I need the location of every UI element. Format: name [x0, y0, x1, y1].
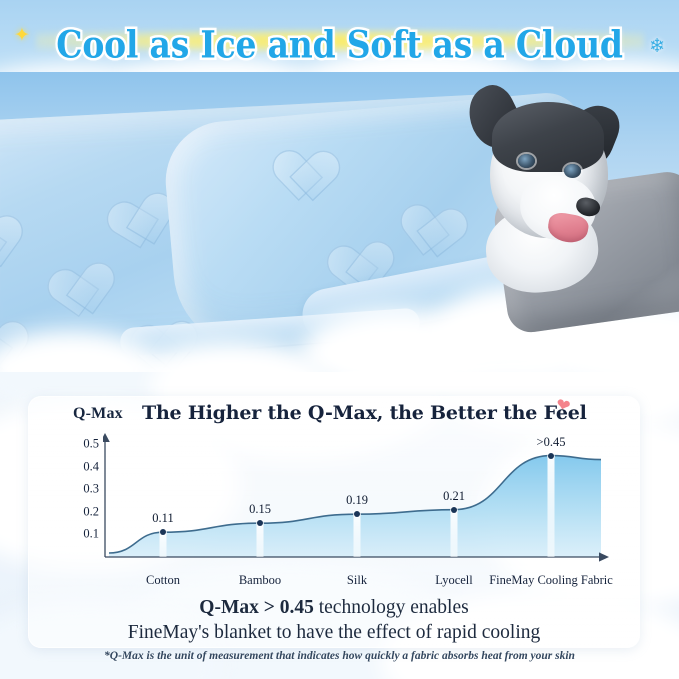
product-photo: [0, 72, 679, 372]
y-tick-0.1: 0.1: [73, 527, 99, 542]
infographic-root: Cool as Ice and Soft as a Cloud ✦ ❄: [0, 0, 679, 679]
x-label-lyocell: Lyocell: [435, 573, 473, 588]
dog-eye-right: [564, 164, 581, 178]
y-tick-0.5: 0.5: [73, 437, 99, 452]
value-label-bamboo: 0.15: [249, 502, 271, 517]
y-axis-title: Q-Max: [73, 405, 123, 423]
value-label-silk: 0.19: [346, 493, 368, 508]
x-label-bamboo: Bamboo: [239, 573, 281, 588]
statement-line-1: Q-Max > 0.45 technology enables: [29, 595, 639, 620]
sparkle-icon: ✦: [14, 26, 30, 45]
gridline-bar-silk: [354, 514, 361, 557]
data-point-cotton: [160, 529, 166, 535]
footnote: *Q-Max is the unit of measurement that i…: [0, 650, 679, 662]
qmax-chart: 0.10.20.30.40.5: [73, 433, 613, 581]
value-label-finemay-cooling-fabric: >0.45: [537, 435, 566, 450]
dog-head-markings: [492, 102, 604, 172]
x-label-silk: Silk: [347, 573, 367, 588]
y-axis-ticks: 0.10.20.30.40.5: [73, 433, 99, 557]
y-tick-0.4: 0.4: [73, 459, 99, 474]
data-point-bamboo: [257, 520, 263, 526]
chart-title: The Higher the Q-Max, the Better the Fee…: [142, 402, 587, 424]
data-point-silk: [354, 511, 360, 517]
gridline-bar-bamboo: [257, 523, 264, 557]
chart-card: Q-Max The Higher the Q-Max, the Better t…: [28, 396, 640, 648]
statement-rest: technology enables: [314, 597, 469, 618]
x-label-cotton: Cotton: [146, 573, 180, 588]
x-axis-labels: CottonBambooSilkLyocellFineMay Cooling F…: [73, 573, 613, 591]
statement-bold: Q-Max > 0.45: [199, 597, 314, 618]
data-point-lyocell: [451, 507, 457, 513]
y-tick-0.2: 0.2: [73, 504, 99, 519]
dog-eye-left: [518, 154, 535, 168]
statement-line-2: FineMay's blanket to have the effect of …: [29, 620, 639, 646]
x-label-finemay-cooling-fabric: FineMay Cooling Fabric: [489, 573, 613, 588]
gridline-bar-finemay-cooling-fabric: [548, 456, 555, 557]
dog-illustration: [452, 80, 642, 295]
snowflake-icon: ❄: [649, 37, 665, 56]
headline-banner: Cool as Ice and Soft as a Cloud: [0, 16, 679, 72]
value-label-cotton: 0.11: [152, 511, 173, 526]
y-tick-0.3: 0.3: [73, 482, 99, 497]
gridline-bar-lyocell: [451, 510, 458, 557]
page-title: Cool as Ice and Soft as a Cloud: [56, 22, 622, 66]
value-label-lyocell: 0.21: [443, 489, 465, 504]
statement-block: Q-Max > 0.45 technology enables FineMay'…: [29, 595, 639, 646]
data-point-finemay-cooling-fabric: [548, 453, 554, 459]
gridline-bar-cotton: [160, 532, 167, 557]
